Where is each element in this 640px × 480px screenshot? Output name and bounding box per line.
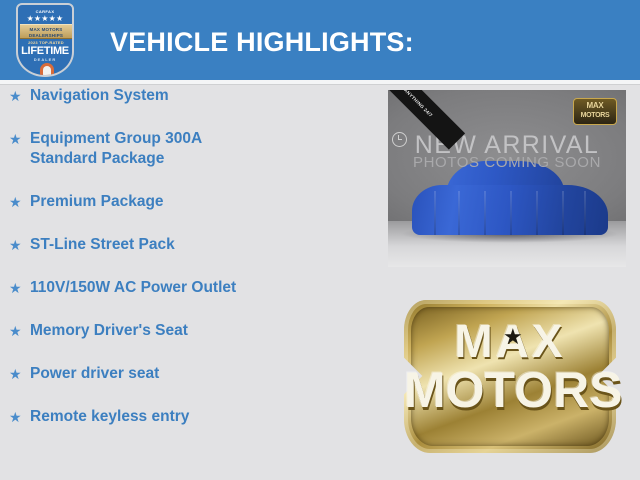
logo-motors-text: MOTORS	[404, 362, 616, 418]
photo-subline: PHOTOS COMING SOON	[388, 154, 626, 171]
max-motors-dealer-logo[interactable]: MAX ★ MOTORS	[404, 300, 616, 453]
star-bullet-icon: ★	[9, 364, 22, 384]
carfax-lifetime-dealer-badge: CARFAX ★★★★★ MAX MOTORS DEALERSHIPS 2023…	[16, 3, 74, 77]
vehicle-photo-placeholder[interactable]: NEW ARRIVAL PHOTOS COMING SOON ASK US AN…	[388, 90, 626, 267]
list-item: ★ Equipment Group 300A Standard Package	[0, 129, 375, 169]
feature-label: Power driver seat	[30, 365, 159, 382]
clock-icon	[392, 132, 407, 147]
list-item: ★ 110V/150W AC Power Outlet	[0, 278, 375, 298]
list-item: ★ Power driver seat	[0, 364, 375, 384]
star-bullet-icon: ★	[9, 192, 22, 212]
badge-person-icon	[40, 63, 54, 77]
drape-fold	[562, 191, 564, 235]
list-item: ★ ST-Line Street Pack	[0, 235, 375, 255]
list-item: ★ Premium Package	[0, 192, 375, 212]
badge-dealer-name: MAX MOTORS	[20, 27, 72, 32]
photo-watermark-logo: MAX MOTORS	[573, 98, 617, 125]
feature-label: Memory Driver's Seat	[30, 322, 188, 339]
badge-stars-icon: ★★★★★	[18, 14, 72, 23]
vehicle-feature-list: ★ Navigation System ★ Equipment Group 30…	[0, 86, 375, 450]
drape-fold	[510, 191, 512, 235]
drape-fold	[458, 191, 460, 235]
star-bullet-icon: ★	[9, 235, 22, 255]
watermark-motors-text: MOTORS	[574, 111, 616, 120]
badge-dealer-label: DEALER	[18, 57, 72, 62]
page-title: VEHICLE HIGHLIGHTS:	[110, 27, 414, 58]
feature-label: Premium Package	[30, 193, 164, 210]
vehicle-highlights-page: CARFAX ★★★★★ MAX MOTORS DEALERSHIPS 2023…	[0, 0, 640, 480]
feature-label: Equipment Group 300A Standard Package	[30, 130, 202, 167]
drape-fold	[434, 191, 436, 235]
feature-label: 110V/150W AC Power Outlet	[30, 279, 236, 296]
feature-label: Navigation System	[30, 87, 169, 104]
drape-fold	[484, 191, 486, 235]
drape-fold	[584, 191, 586, 235]
badge-shield-shape: CARFAX ★★★★★ MAX MOTORS DEALERSHIPS 2023…	[16, 3, 74, 77]
watermark-max-text: MAX	[574, 100, 616, 111]
header-divider	[0, 80, 640, 85]
drape-fold	[536, 191, 538, 235]
star-bullet-icon: ★	[9, 129, 22, 149]
feature-label: ST-Line Street Pack	[30, 236, 175, 253]
star-bullet-icon: ★	[9, 407, 22, 427]
star-bullet-icon: ★	[9, 321, 22, 341]
list-item: ★ Memory Driver's Seat	[0, 321, 375, 341]
star-bullet-icon: ★	[9, 86, 22, 106]
page-header: CARFAX ★★★★★ MAX MOTORS DEALERSHIPS 2023…	[0, 0, 640, 80]
feature-label: Remote keyless entry	[30, 408, 189, 425]
star-bullet-icon: ★	[9, 278, 22, 298]
badge-lifetime-label: LIFETIME	[18, 45, 72, 57]
badge-dealerships-label: DEALERSHIPS	[20, 33, 72, 38]
list-item: ★ Navigation System	[0, 86, 375, 106]
badge-ribbon: MAX MOTORS DEALERSHIPS	[20, 24, 72, 39]
logo-star-icon: ★	[503, 326, 523, 348]
list-item: ★ Remote keyless entry	[0, 407, 375, 427]
